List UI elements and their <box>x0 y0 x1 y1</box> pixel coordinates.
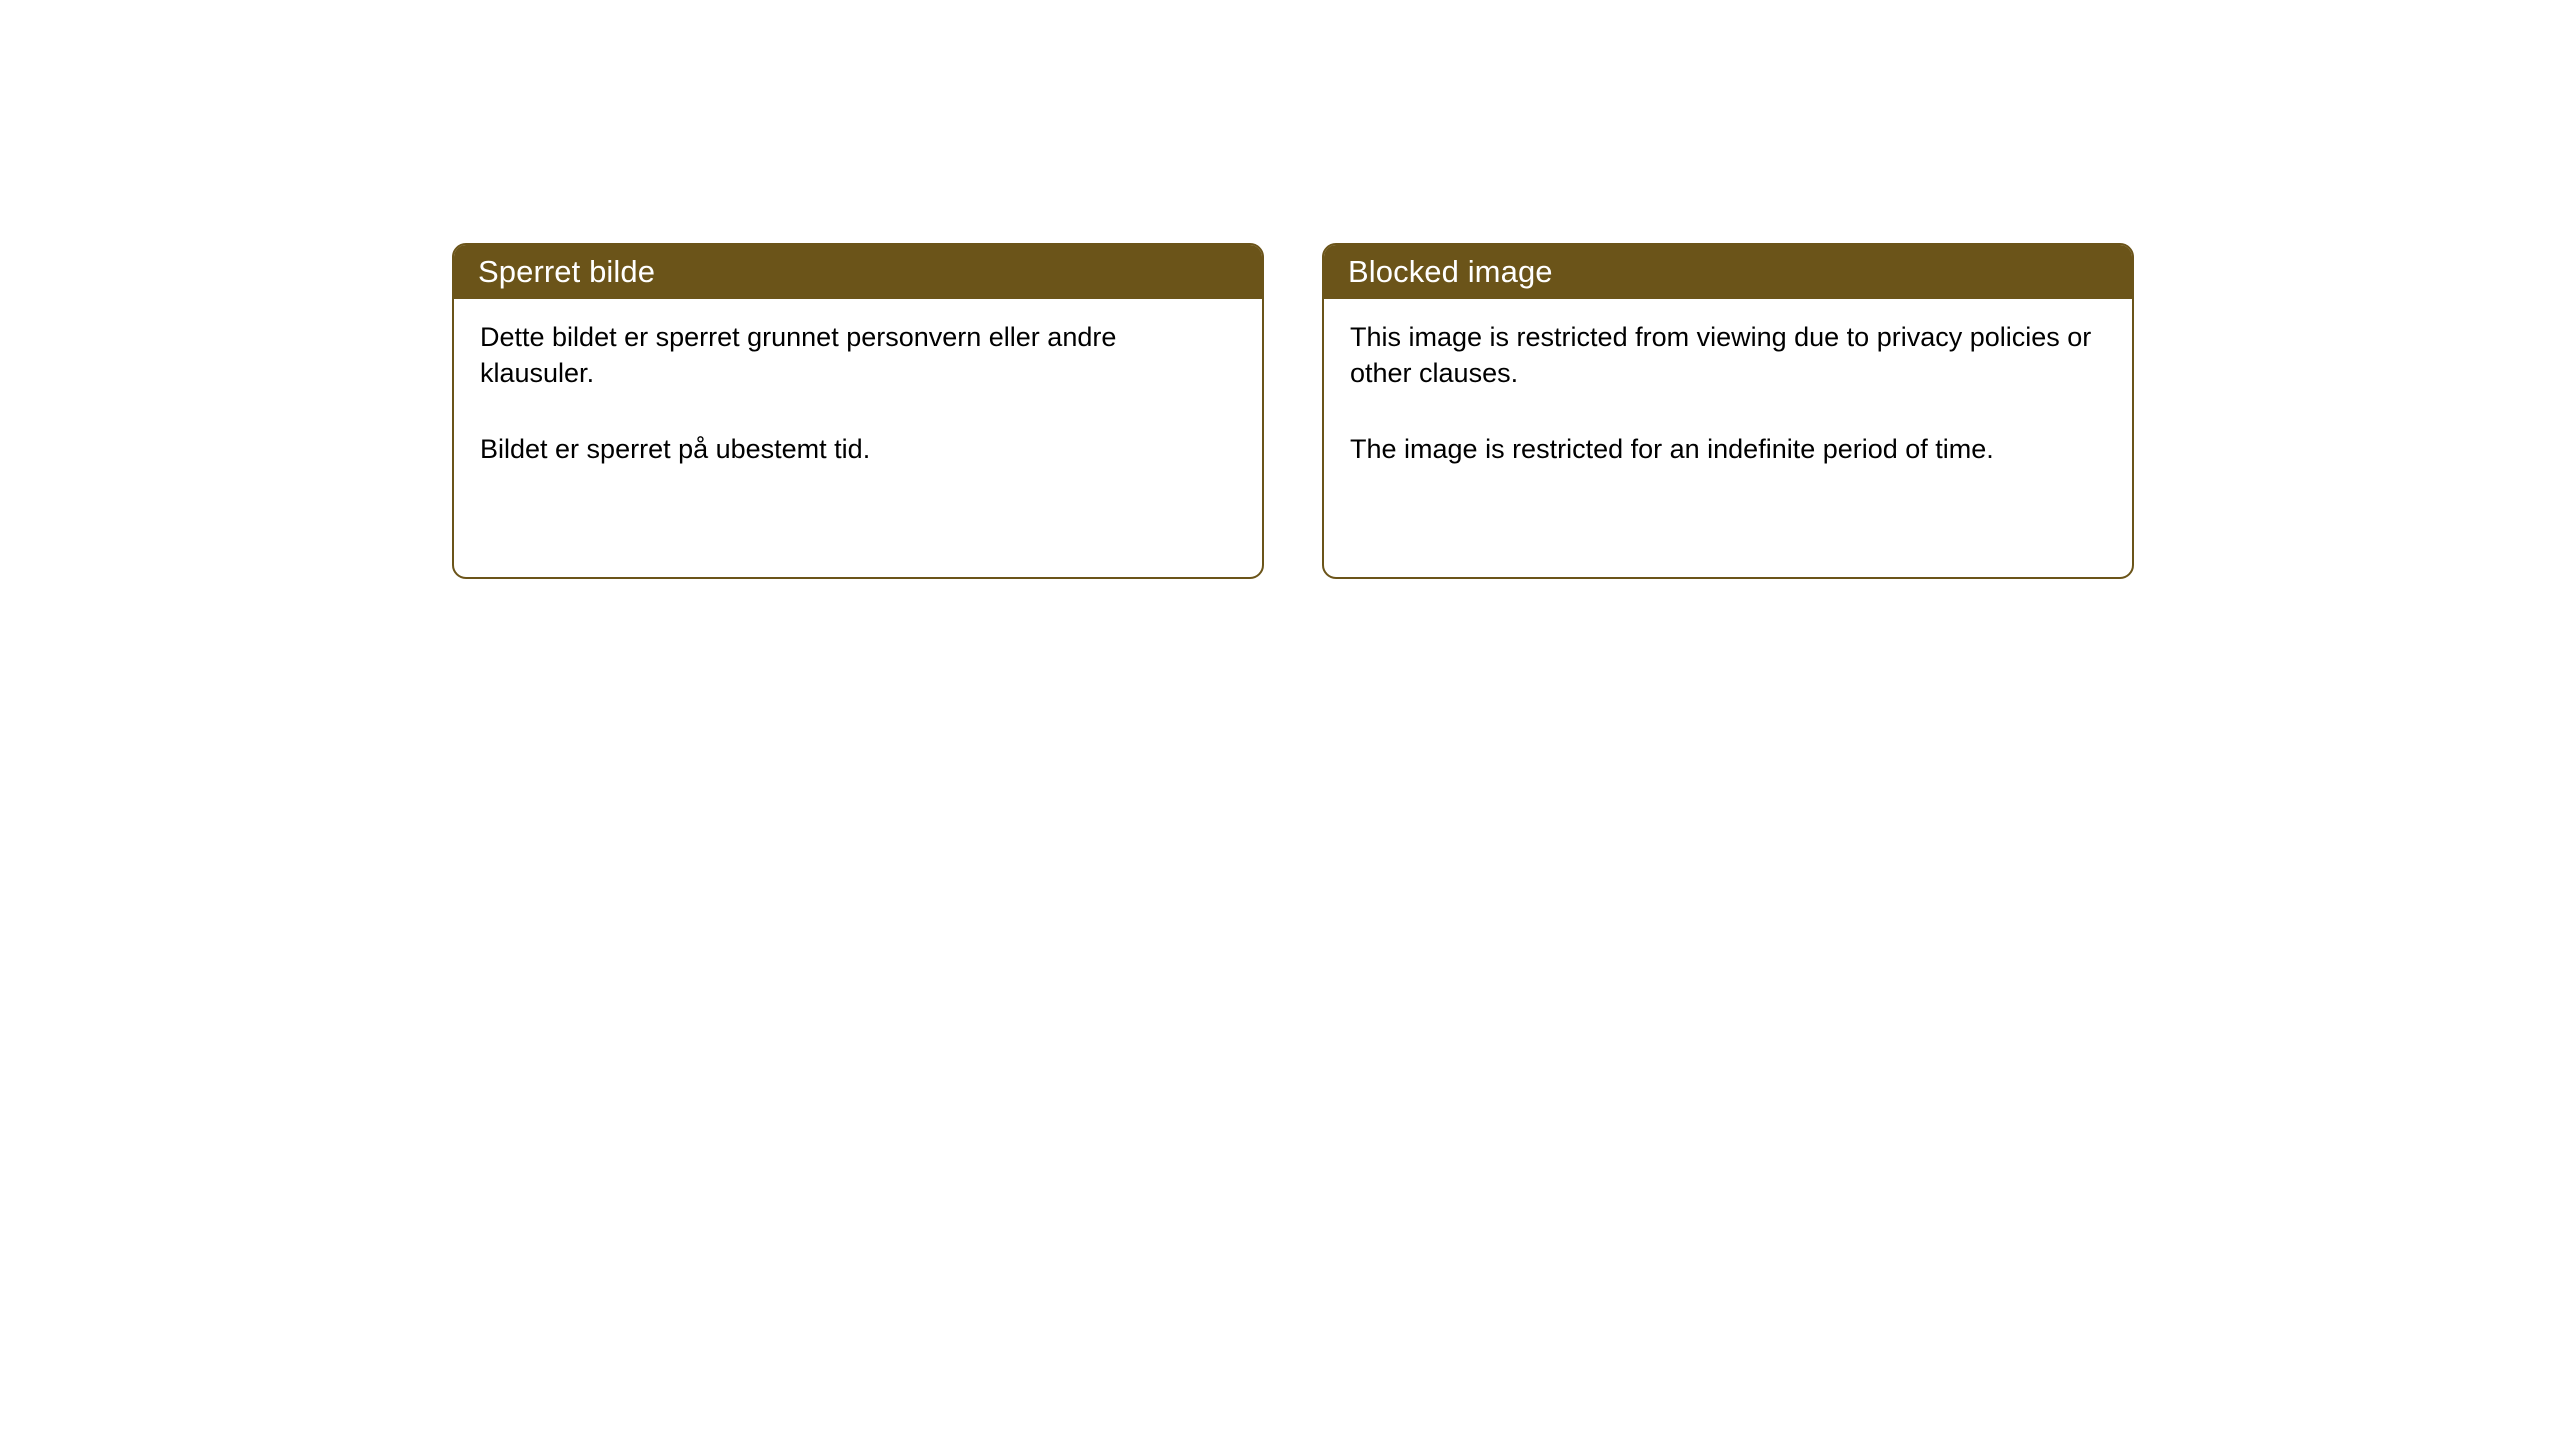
card-title-english: Blocked image <box>1348 256 1553 287</box>
card-paragraph-reason-english: This image is restricted from viewing du… <box>1350 319 2106 391</box>
notice-stage: Sperret bilde Dette bildet er sperret gr… <box>0 0 2560 1440</box>
card-paragraph-reason-norwegian: Dette bildet er sperret grunnet personve… <box>480 319 1236 391</box>
card-paragraph-duration-norwegian: Bildet er sperret på ubestemt tid. <box>480 431 1236 467</box>
card-paragraph-duration-english: The image is restricted for an indefinit… <box>1350 431 2106 467</box>
blocked-image-card-english: Blocked image This image is restricted f… <box>1322 243 2134 579</box>
card-title-norwegian: Sperret bilde <box>478 256 655 287</box>
card-header-norwegian: Sperret bilde <box>452 243 1264 299</box>
card-body-norwegian: Dette bildet er sperret grunnet personve… <box>454 299 1262 491</box>
blocked-image-card-norwegian: Sperret bilde Dette bildet er sperret gr… <box>452 243 1264 579</box>
card-header-english: Blocked image <box>1322 243 2134 299</box>
card-body-english: This image is restricted from viewing du… <box>1324 299 2132 491</box>
